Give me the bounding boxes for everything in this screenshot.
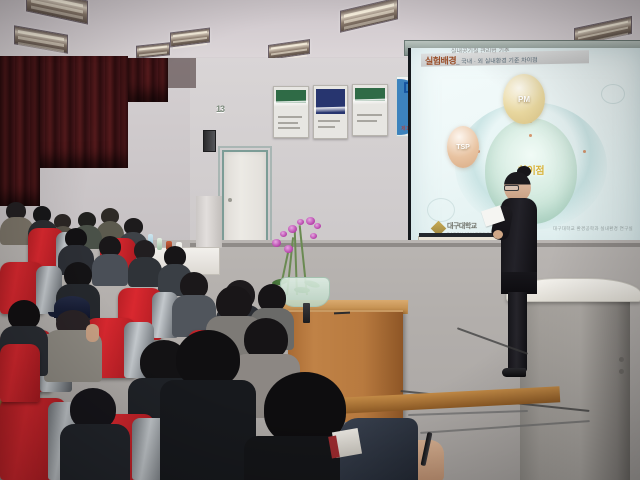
- slide-title-main: 실험배경: [425, 56, 456, 67]
- audience-member: [128, 240, 162, 284]
- curtain-shadow: [168, 58, 196, 88]
- pm-bubble: PM: [503, 74, 545, 124]
- poster-glare: [313, 106, 348, 112]
- female-presenter: [495, 168, 555, 383]
- poster-text-line: [357, 114, 381, 116]
- presenter-hand: [493, 230, 503, 239]
- person-shoulders: [160, 380, 256, 480]
- person-hand: [86, 324, 99, 342]
- room-number-sign: 13: [216, 104, 232, 118]
- poster-text-line: [278, 116, 302, 118]
- slide-accent-dot: [583, 150, 586, 153]
- slide-watermark: [601, 84, 625, 104]
- auditorium-seat[interactable]: [0, 344, 40, 402]
- audience-member-with-cap: [44, 296, 102, 376]
- slide-watermark: [427, 198, 455, 222]
- tsp-bubble: TSP: [447, 126, 479, 168]
- wall-skirting: [190, 243, 640, 247]
- slide-footer-note: 대구대학교 환경공학과 실내환경 연구실: [553, 226, 633, 232]
- slide-title-sub: _ 국내 · 외 실내환경 기준 차이점: [456, 58, 538, 66]
- stage-curtain-strip: [128, 58, 168, 102]
- person-shoulders: [128, 257, 162, 287]
- poster-text-line: [318, 126, 335, 128]
- poster-text-line: [278, 127, 300, 129]
- lectern-screw: [619, 357, 624, 362]
- presenter-legs: [508, 292, 527, 372]
- audience-member-foreground: [160, 330, 256, 480]
- presenter-glasses: [504, 185, 519, 191]
- person-head: [216, 286, 252, 320]
- lecture-hall-photo: 13 대구 대 제1회 2008. 11. 실내공기질 관리법 기준: [0, 0, 640, 480]
- tsp-bubble-label: TSP: [456, 144, 470, 151]
- poster-text-line: [278, 122, 298, 124]
- wall-poster-right: [352, 84, 388, 136]
- person-shoulders: [60, 424, 130, 480]
- poster-text-line: [357, 120, 377, 122]
- wall-poster-center: [313, 85, 348, 139]
- audience-member: [60, 388, 130, 480]
- wall-speaker: [203, 130, 216, 152]
- orchid-bloom: [280, 231, 287, 237]
- wall-poster-left: [273, 86, 309, 138]
- orchid-bloom: [297, 219, 304, 225]
- side-door[interactable]: [222, 150, 268, 249]
- orchid-bloom: [284, 245, 293, 253]
- door-knob[interactable]: [228, 198, 232, 202]
- orchid-bloom: [288, 225, 297, 233]
- orchid-bloom: [310, 233, 317, 239]
- slide-accent-dot: [529, 134, 532, 137]
- wall-pillar: [196, 196, 222, 248]
- pm-bubble-label: PM: [518, 95, 530, 104]
- orchid-bloom: [314, 223, 321, 229]
- stage-curtain-upper: [0, 56, 40, 206]
- handheld-microphone[interactable]: [303, 303, 310, 323]
- orchid-bloom: [272, 239, 281, 247]
- slide-title: 실험배경_ 국내 · 외 실내환경 기준 차이점: [425, 52, 538, 67]
- poster-glare: [352, 98, 388, 104]
- presenter-shoe: [502, 368, 526, 377]
- poster-text-line: [318, 120, 340, 122]
- poster-glare: [273, 100, 309, 106]
- presenter-skirt: [501, 272, 537, 294]
